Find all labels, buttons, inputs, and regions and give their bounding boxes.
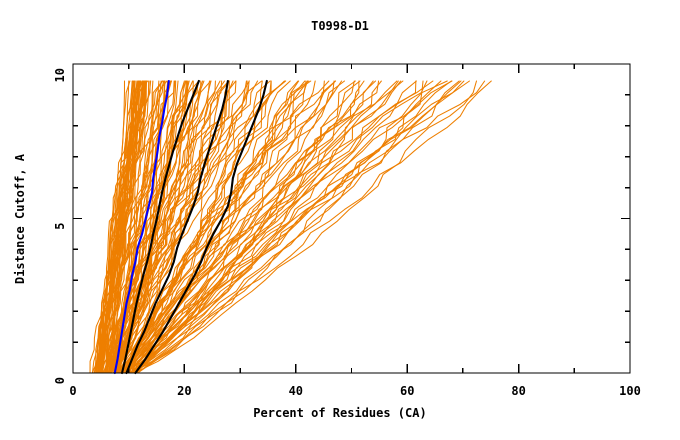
y-axis-label: Distance Cutoff, A — [13, 153, 27, 284]
plot-background — [0, 0, 680, 440]
chart-figure: T0998-D1 0204060801000510 Percent of Res… — [0, 0, 680, 440]
x-axis-label: Percent of Residues (CA) — [253, 406, 426, 420]
x-tick-label: 0 — [69, 384, 76, 398]
x-tick-label: 40 — [289, 384, 303, 398]
y-tick-label: 10 — [53, 68, 67, 82]
y-tick-label: 5 — [53, 223, 67, 230]
chart-title: T0998-D1 — [311, 19, 369, 33]
x-tick-label: 60 — [400, 384, 414, 398]
x-tick-label: 100 — [619, 384, 641, 398]
x-tick-label: 80 — [511, 384, 525, 398]
y-tick-label: 0 — [53, 377, 67, 384]
distance-cutoff-plot: T0998-D1 0204060801000510 Percent of Res… — [0, 0, 680, 440]
x-tick-label: 20 — [177, 384, 191, 398]
